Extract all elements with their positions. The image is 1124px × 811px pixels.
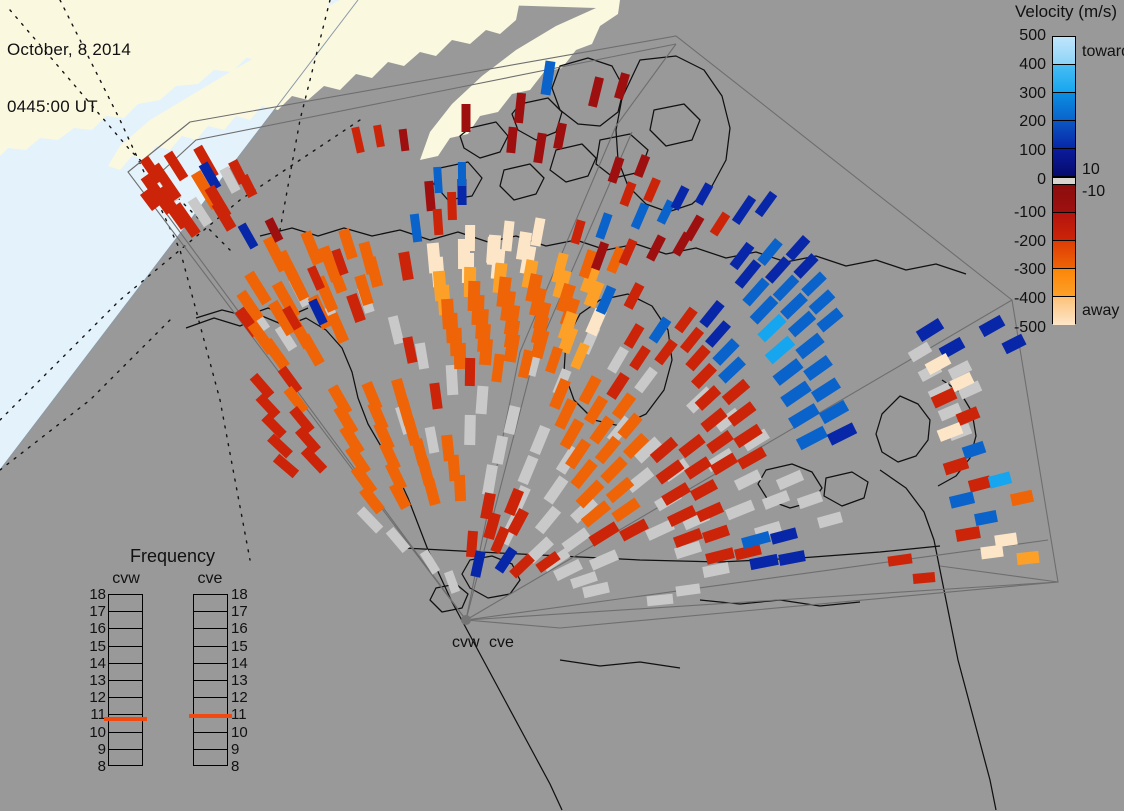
frequency-scale-label: 10 [84, 725, 106, 740]
colorbar-band [1053, 241, 1075, 269]
colorbar-tick: -200 [962, 234, 1046, 250]
frequency-scale-label: 16 [231, 621, 253, 636]
frequency-scale-label: 15 [84, 639, 106, 654]
frequency-scale-label: 12 [231, 690, 253, 705]
radar-site-label-cvw: cvw [452, 634, 480, 652]
frequency-scale-box [108, 594, 143, 766]
frequency-scale-label: 11 [231, 707, 253, 722]
frequency-scale-segment [194, 629, 227, 646]
radar-data-cell [486, 237, 498, 264]
frequency-scale-segment [109, 681, 142, 698]
frequency-legend-title: Frequency [85, 546, 260, 567]
radar-data-cell [479, 339, 493, 366]
colorbar-tick: 300 [962, 86, 1046, 102]
colorbar-tick: 500 [962, 28, 1046, 44]
frequency-scale-label: 11 [84, 707, 106, 722]
radar-site-dot [461, 615, 471, 625]
velocity-colorbar: Velocity (m/s) 5004003002001000-100-200-… [962, 0, 1124, 340]
frequency-scale-segment [194, 681, 227, 698]
frequency-scale-segment [194, 698, 227, 715]
radar-data-cell [913, 572, 936, 584]
colorbar-title: Velocity (m/s) [962, 2, 1117, 22]
colorbar-band [1053, 269, 1075, 297]
colorbar-toward-label: toward [1082, 44, 1124, 60]
frequency-scale-segment [194, 750, 227, 767]
colorbar-tick: 0 [962, 172, 1046, 188]
colorbar-tick: -100 [962, 205, 1046, 221]
timestamp-time: 0445:00 UT [7, 97, 131, 116]
frequency-scale-segment [109, 750, 142, 767]
frequency-scale-segment [109, 612, 142, 629]
frequency-scale-label: 10 [231, 725, 253, 740]
frequency-scale-segment [109, 698, 142, 715]
frequency-scale-segment [194, 612, 227, 629]
frequency-scale-label: 12 [84, 690, 106, 705]
radar-data-cell [1016, 551, 1039, 565]
colorbar-band [1053, 93, 1075, 121]
frequency-marker [189, 714, 232, 718]
colorbar-tick: 100 [962, 143, 1046, 159]
frequency-scale-segment [109, 629, 142, 646]
frequency-scale-label: 9 [84, 742, 106, 757]
frequency-scale-label: 14 [84, 656, 106, 671]
radar-data-cell [446, 365, 459, 396]
colorbar-negative-threshold-label: -10 [1082, 184, 1105, 200]
colorbar-band [1053, 185, 1075, 213]
colorbar-away-label: away [1082, 303, 1119, 319]
colorbar-tick: 400 [962, 57, 1046, 73]
frequency-marker [104, 717, 147, 721]
colorbar-band [1053, 177, 1075, 185]
frequency-scale-label: 13 [84, 673, 106, 688]
frequency-scale-label: 14 [231, 656, 253, 671]
colorbar-tick: -400 [962, 291, 1046, 307]
radar-data-cell [433, 209, 444, 236]
radar-data-cell [454, 343, 467, 369]
frequency-scale-segment [194, 647, 227, 664]
frequency-scale-label: 17 [84, 604, 106, 619]
frequency-scale-label: 18 [84, 587, 106, 602]
frequency-scale-label: 8 [84, 759, 106, 774]
radar-data-cell [475, 386, 488, 415]
frequency-legend: Frequency cvw 18171615141312111098 cve 1… [85, 546, 260, 786]
radar-data-cell [465, 358, 475, 386]
radar-data-cell [465, 225, 475, 251]
timestamp-date: October, 8 2014 [7, 40, 131, 59]
frequency-scale-segment [109, 595, 142, 612]
frequency-scale-label: 13 [231, 673, 253, 688]
frequency-scale-segment [194, 733, 227, 750]
frequency-scale-label: 9 [231, 742, 253, 757]
radar-site-label-cve: cve [489, 634, 514, 652]
radar-data-cell [447, 192, 457, 220]
colorbar-band [1053, 37, 1075, 65]
colorbar-band [1053, 297, 1075, 325]
radar-data-cell [462, 104, 471, 132]
colorbar-band [1053, 121, 1075, 149]
radar-data-cell [454, 475, 466, 501]
radar-data-cell [464, 415, 476, 445]
frequency-scale-box [193, 594, 228, 766]
frequency-scale-segment [109, 647, 142, 664]
colorbar-positive-threshold-label: 10 [1082, 162, 1100, 178]
radar-data-cell [433, 167, 443, 193]
frequency-scale-segment [194, 664, 227, 681]
colorbar-band [1053, 149, 1075, 177]
frequency-scale-label: 16 [84, 621, 106, 636]
frequency-scale-segment [109, 733, 142, 750]
colorbar-band [1053, 65, 1075, 93]
colorbar-tick: -300 [962, 262, 1046, 278]
colorbar-tick: -500 [962, 320, 1046, 336]
colorbar-band [1053, 213, 1075, 241]
radar-data-cell [458, 162, 466, 186]
timestamp-block: October, 8 2014 0445:00 UT [7, 2, 131, 154]
radar-velocity-map: October, 8 2014 0445:00 UT Velocity (m/s… [0, 0, 1124, 811]
colorbar-gradient-bar [1052, 36, 1076, 324]
colorbar-tick: 200 [962, 114, 1046, 130]
frequency-scale-label: 15 [231, 639, 253, 654]
frequency-scale-label: 17 [231, 604, 253, 619]
frequency-scale-label: 18 [231, 587, 253, 602]
frequency-scale-label: 8 [231, 759, 253, 774]
frequency-scale-segment [194, 595, 227, 612]
frequency-scale-segment [109, 664, 142, 681]
